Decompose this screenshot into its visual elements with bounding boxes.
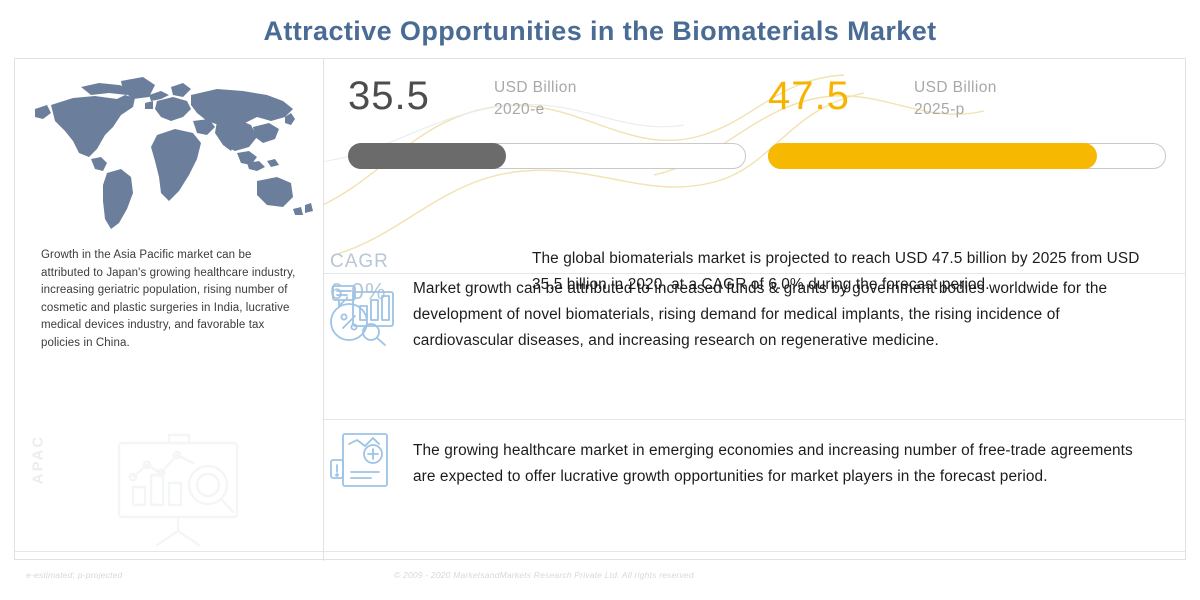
row-divider-left [15, 551, 324, 552]
emerging-economies-text: The growing healthcare market in emergin… [413, 424, 1171, 490]
apac-note-text: Growth in the Asia Pacific market can be… [41, 247, 303, 353]
kpi-bar-track [768, 143, 1166, 169]
kpi-unit-line2: 2025-p [914, 99, 997, 121]
apac-region-label: APAC [30, 425, 47, 495]
kpi-bar-fill [348, 143, 506, 169]
kpi-unit-line1: USD Billion [914, 77, 997, 99]
analytics-chart-percent-icon [327, 282, 413, 352]
emerging-economies-block: The growing healthcare market in emergin… [309, 424, 1171, 520]
kpi-unit-line1: USD Billion [494, 77, 577, 99]
kpi-value: 47.5 [768, 73, 850, 119]
healthcare-document-icon [327, 430, 413, 500]
infographic-page: Attractive Opportunities in the Biomater… [0, 0, 1200, 600]
row-divider-2 [324, 419, 1186, 420]
kpi-unit-label: USD Billion 2020-e [494, 77, 577, 121]
market-growth-drivers-block: Market growth can be attributed to incre… [309, 276, 1171, 360]
cagr-label: CAGR [330, 248, 480, 276]
footer-legend: e-estimated; p-projected [26, 570, 122, 580]
kpi-value: 35.5 [348, 73, 430, 119]
footer-copyright: © 2009 - 2020 MarketsandMarkets Research… [394, 570, 694, 580]
world-map-icon [21, 65, 317, 243]
kpi-bar-track [348, 143, 746, 169]
kpi-unit-label: USD Billion 2025-p [914, 77, 997, 121]
row-divider-3 [324, 551, 1186, 552]
page-title: Attractive Opportunities in the Biomater… [0, 16, 1200, 47]
kpi-bar-fill [768, 143, 1097, 169]
kpi-row: 35.5 USD Billion 2020-e 47.5 USD Billion… [324, 59, 1186, 273]
kpi-unit-line2: 2020-e [494, 99, 577, 121]
kpi-market-size-2025: 47.5 USD Billion 2025-p [754, 73, 1174, 185]
market-growth-drivers-text: Market growth can be attributed to incre… [413, 276, 1171, 354]
presentation-chart-magnifier-icon [107, 427, 252, 547]
kpi-market-size-2020: 35.5 USD Billion 2020-e [334, 73, 754, 185]
